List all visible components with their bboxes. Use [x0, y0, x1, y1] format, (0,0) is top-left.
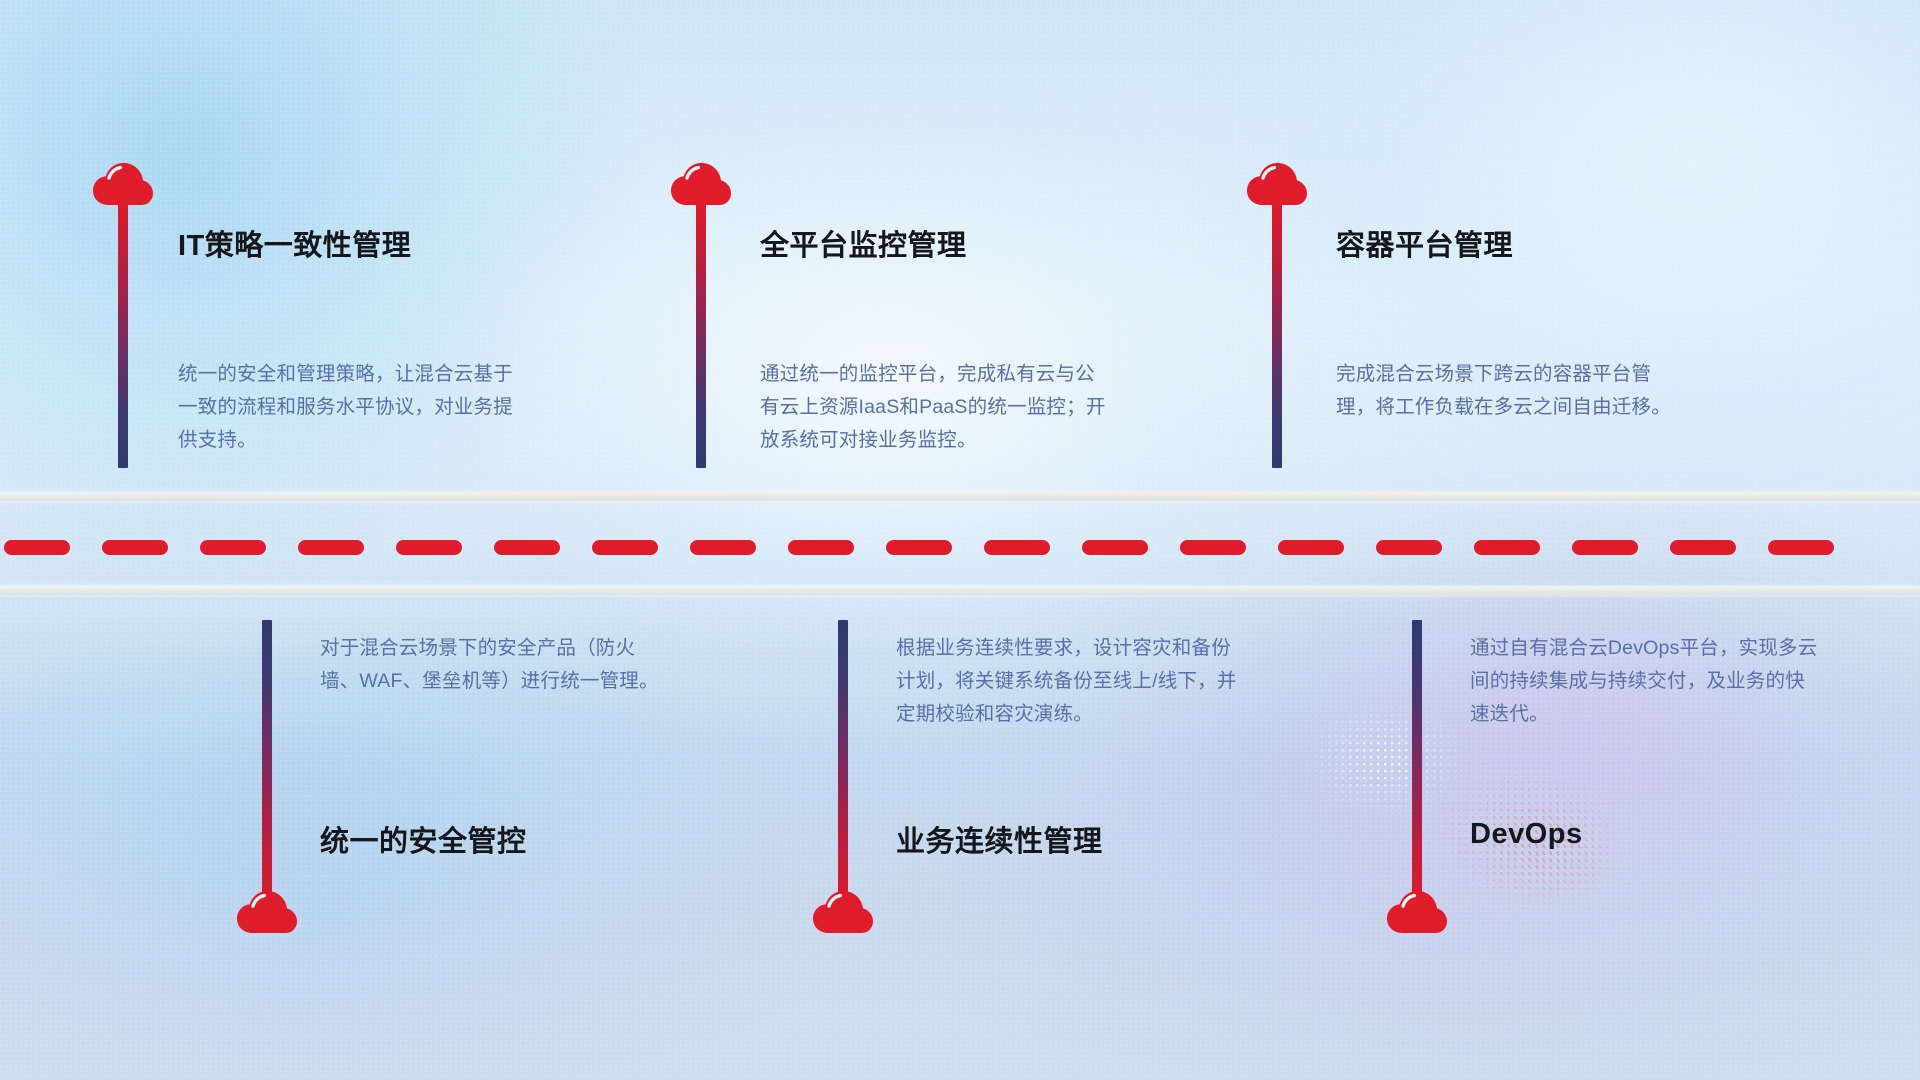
- card-title: IT策略一致性管理: [178, 222, 411, 264]
- road-dash: [788, 540, 854, 555]
- card-title: 全平台监控管理: [760, 222, 967, 264]
- card-pole: [118, 200, 128, 468]
- road-dash: [1376, 540, 1442, 555]
- road-dash: [1082, 540, 1148, 555]
- card-body: 通过统一的监控平台，完成私有云与公有云上资源IaaS和PaaS的统一监控；开放系…: [760, 358, 1112, 457]
- road-dash: [1670, 540, 1736, 555]
- road-dash: [886, 540, 952, 555]
- cloud-icon[interactable]: [1386, 890, 1448, 934]
- card-body: 通过自有混合云DevOps平台，实现多云间的持续集成与持续交付，及业务的快速迭代…: [1470, 632, 1822, 731]
- road-dash: [494, 540, 560, 555]
- road-dash: [592, 540, 658, 555]
- card-title: DevOps: [1470, 818, 1583, 851]
- road-dash: [1180, 540, 1246, 555]
- cloud-icon[interactable]: [236, 890, 298, 934]
- road-dash: [200, 540, 266, 555]
- road-center-dashes: [0, 540, 1920, 555]
- road-dash: [298, 540, 364, 555]
- card-title: 业务连续性管理: [896, 818, 1103, 860]
- card-body: 统一的安全和管理策略，让混合云基于一致的流程和服务水平协议，对业务提供支持。: [178, 358, 530, 457]
- card-title: 容器平台管理: [1336, 222, 1513, 264]
- road-edge-top: [0, 492, 1920, 501]
- road-edge-bottom: [0, 586, 1920, 595]
- card-body: 完成混合云场景下跨云的容器平台管理，将工作负载在多云之间自由迁移。: [1336, 358, 1688, 424]
- road-dash: [1278, 540, 1344, 555]
- road-dash: [102, 540, 168, 555]
- road-dash: [4, 540, 70, 555]
- card-title: 统一的安全管控: [320, 818, 527, 860]
- card-pole: [262, 620, 272, 906]
- card-body: 对于混合云场景下的安全产品（防火墙、WAF、堡垒机等）进行统一管理。: [320, 632, 672, 698]
- road-dash: [1572, 540, 1638, 555]
- road-dash: [690, 540, 756, 555]
- card-body: 根据业务连续性要求，设计容灾和备份计划，将关键系统备份至线上/线下，并定期校验和…: [896, 632, 1248, 731]
- infographic-canvas: IT策略一致性管理统一的安全和管理策略，让混合云基于一致的流程和服务水平协议，对…: [0, 0, 1920, 1080]
- road-dash: [396, 540, 462, 555]
- cloud-icon[interactable]: [812, 890, 874, 934]
- road-dash: [1768, 540, 1834, 555]
- card-pole: [1272, 200, 1282, 468]
- road-dash: [1474, 540, 1540, 555]
- road-dash: [984, 540, 1050, 555]
- card-pole: [1412, 620, 1422, 906]
- card-pole: [696, 200, 706, 468]
- card-pole: [838, 620, 848, 906]
